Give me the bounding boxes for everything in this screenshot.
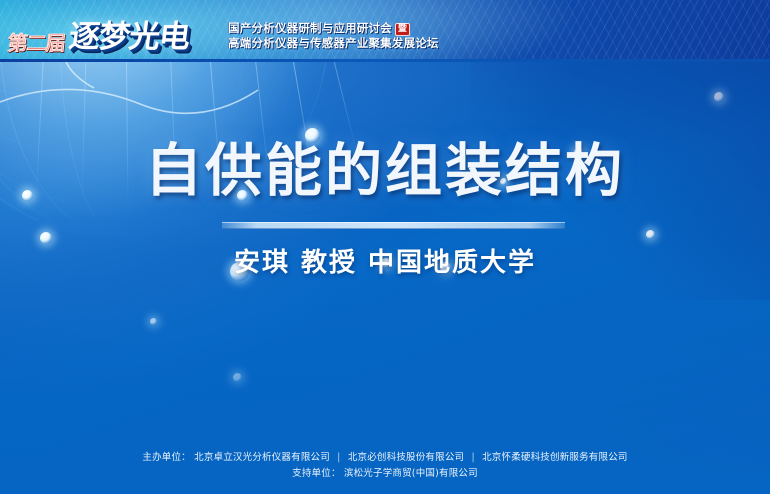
slide-title: 自供能的组装结构 <box>0 142 770 202</box>
supporter-name: 滨松光子学商贸(中国)有限公司 <box>344 468 478 479</box>
logo-name-text: 逐梦光电 <box>67 22 191 53</box>
title-block: 自供能的组装结构 安琪 教授 中国地质大学 <box>0 142 770 202</box>
organizer-item-2: 北京怀柔硬科技创新服务有限公司 <box>482 452 628 463</box>
footer: 主办单位： 北京卓立汉光分析仪器有限公司 | 北京必创科技股份有限公司 | 北京… <box>0 450 770 483</box>
supporter-label: 支持单位： <box>292 468 341 479</box>
footer-separator-1: | <box>471 452 474 463</box>
footer-organizers-line: 主办单位： 北京卓立汉光分析仪器有限公司 | 北京必创科技股份有限公司 | 北京… <box>0 450 770 467</box>
organizer-item-1: 北京必创科技股份有限公司 <box>348 452 464 463</box>
event-title-line-2: 高端分析仪器与传感器产业聚集发展论坛 <box>228 36 439 50</box>
organizer-item-0: 北京卓立汉光分析仪器有限公司 <box>194 452 330 463</box>
event-title-line-1: 国产分析仪器研制与应用研讨会暨 <box>228 21 439 36</box>
logo-ordinal-text: 第二届 <box>7 33 66 53</box>
event-title-badge: 暨 <box>395 23 410 36</box>
event-header-band: 第二届 逐梦光电 国产分析仪器研制与应用研讨会暨 高端分析仪器与传感器产业聚集发… <box>0 0 770 62</box>
footer-separator-0: | <box>337 452 340 463</box>
slide-subtitle: 安琪 教授 中国地质大学 <box>0 242 770 279</box>
event-title-line-1-text: 国产分析仪器研制与应用研讨会 <box>228 21 392 35</box>
title-divider-rule <box>222 222 565 229</box>
header-divider <box>0 59 770 62</box>
footer-supporter-line: 支持单位： 滨松光子学商贸(中国)有限公司 <box>0 466 770 483</box>
conference-logo: 第二届 逐梦光电 <box>8 22 189 53</box>
organizer-label: 主办单位： <box>142 452 191 463</box>
event-title-group: 国产分析仪器研制与应用研讨会暨 高端分析仪器与传感器产业聚集发展论坛 <box>228 21 439 50</box>
presentation-slide: 第二届 逐梦光电 国产分析仪器研制与应用研讨会暨 高端分析仪器与传感器产业聚集发… <box>0 0 770 494</box>
